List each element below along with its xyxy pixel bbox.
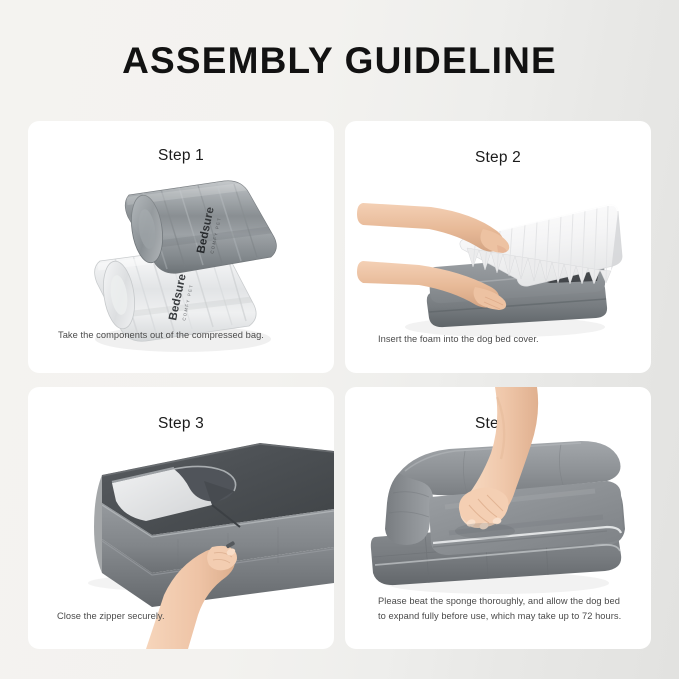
svg-text:COMFY PET: COMFY PET <box>209 216 222 254</box>
gray-compressed-roll: Bedsure COMFY PET <box>125 181 278 274</box>
svg-text:COMFY PET: COMFY PET <box>181 283 194 321</box>
step-card-1: Step 1 <box>28 121 334 373</box>
step-2-title: Step 2 <box>345 149 651 167</box>
pressing-hand <box>455 387 538 539</box>
step-card-2: Step 2 <box>345 121 651 373</box>
zipper-hand <box>146 541 237 649</box>
step-4-title: Step 4 <box>345 415 651 433</box>
step-2-caption: Insert the foam into the dog bed cover. <box>378 332 633 347</box>
step-3-title: Step 3 <box>28 415 334 433</box>
steps-grid: Step 1 <box>28 121 651 649</box>
seat-cushion <box>429 481 623 555</box>
step-3-caption: Close the zipper securely. <box>57 609 316 624</box>
brand-text-gray-roll: Bedsure <box>195 206 217 255</box>
step-1-title: Step 1 <box>28 147 334 165</box>
dog-bed-body <box>94 443 334 607</box>
step-card-3: Step 3 <box>28 387 334 649</box>
lower-arm <box>357 261 506 310</box>
step-1-caption: Take the components out of the compresse… <box>58 328 316 343</box>
page-title: ASSEMBLY GUIDELINE <box>0 40 679 82</box>
left-bolster <box>385 473 433 545</box>
egg-crate-foam <box>460 205 622 287</box>
back-bolster <box>397 441 620 495</box>
dog-bed-cover <box>427 253 607 327</box>
assembly-guideline-page: ASSEMBLY GUIDELINE Step 1 <box>0 0 679 679</box>
cover-flap <box>112 466 240 527</box>
step-4-caption: Please beat the sponge thoroughly, and a… <box>378 594 629 624</box>
upper-arm <box>357 203 509 253</box>
bed-base <box>371 519 621 585</box>
brand-text-white-roll: Bedsure <box>167 273 189 322</box>
right-bolster <box>577 481 625 546</box>
step-card-4: Step 4 <box>345 387 651 649</box>
